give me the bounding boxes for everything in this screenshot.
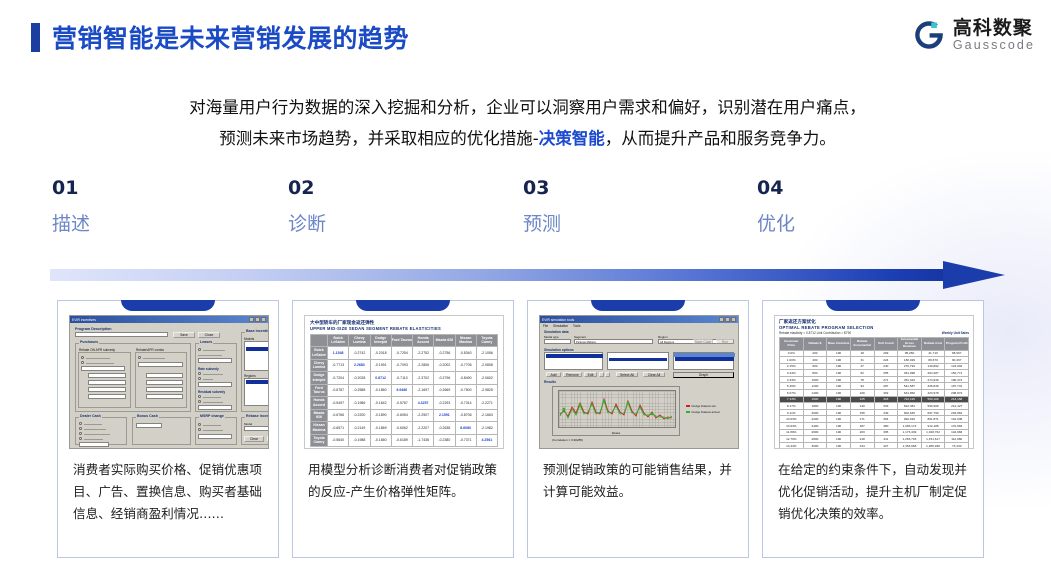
radio-no-lease-label — [203, 350, 225, 351]
matrix-cell: -2.2806 — [413, 359, 434, 372]
matrix-cell: -0.5640 — [328, 434, 349, 447]
clear-all-button-3[interactable]: Clear All — [643, 372, 665, 377]
matrix-cell: -0.2200 — [349, 409, 370, 422]
card-caption-4: 在给定的约束条件下，自动发现并优化促销活动，提升主机厂制定促销优化决策的效率。 — [778, 459, 970, 525]
radio-rebate-cash-label — [84, 429, 106, 430]
minimize-icon[interactable] — [249, 317, 254, 322]
term-36-left[interactable] — [88, 380, 126, 385]
rebate-cell: 10.93% — [780, 423, 804, 430]
maximize-icon[interactable] — [255, 317, 260, 322]
edit-button[interactable]: Edit — [584, 372, 597, 377]
term-60-right[interactable] — [146, 394, 183, 399]
remove-button[interactable]: Remove — [563, 372, 582, 377]
rebase-model-select[interactable] — [244, 426, 269, 431]
menu-tools[interactable]: Tools — [573, 324, 580, 328]
matrix-cell: -0.8340 — [455, 347, 476, 360]
purchases-label: Purchases — [79, 340, 99, 344]
step-label-4: 优化 — [757, 208, 795, 240]
rebate-cell: 395 — [874, 429, 898, 436]
dealer-cash-select[interactable] — [79, 442, 109, 447]
matrix-cell: 8.6080 — [455, 422, 476, 435]
menu-simulation[interactable]: Simulation — [553, 324, 568, 328]
rebate-cell: 3.44% — [780, 370, 804, 377]
card-tab-4 — [826, 300, 920, 311]
logo-text-en: Gausscode — [953, 38, 1035, 52]
radio-lease-only[interactable] — [79, 437, 82, 440]
matrix-cell: 0.8712 — [370, 372, 391, 385]
matrix-cell: -0.1991 — [370, 359, 391, 372]
rebate-cell: 156 — [850, 409, 874, 416]
title-text: 营销智能是未来营销发展的趋势 — [52, 19, 409, 55]
rebate-cell: 180,029 — [898, 357, 922, 364]
matrix-cell: -0.1986 — [349, 397, 370, 410]
rebate-cell: 171 — [850, 416, 874, 423]
scenario-header — [674, 353, 735, 357]
rebate-cell: 190 — [827, 409, 851, 416]
radio-no-lease-subvent[interactable] — [198, 348, 201, 351]
rebate-row: 1.00%40019031224180,02989,67090,467 — [780, 357, 969, 364]
matrix-cell: -0.2796 — [434, 372, 455, 385]
rebate-cell: 8.17% — [780, 403, 804, 410]
rebate-cell: 801,871 — [921, 416, 945, 423]
results-label: Results — [544, 380, 556, 384]
models-selected-item-3 — [609, 358, 667, 362]
matrix-row-header: Honda Accord — [311, 397, 328, 410]
leases-label: Leases — [199, 340, 213, 344]
rebate-cell: 190 — [827, 357, 851, 364]
model-type-select[interactable] — [544, 339, 571, 344]
matrix-row: Toyota Camry-0.5640-0.1988-0.1660-0.6189… — [311, 434, 498, 447]
term-24-left[interactable] — [88, 373, 126, 378]
rebate-header-row: Customer Price Rebate $ Base Incentive R… — [780, 337, 969, 350]
rebate-col-8: Program Profit — [945, 337, 969, 350]
step-label-1: 描述 — [52, 208, 90, 240]
rebate-cell: 125 — [850, 396, 874, 403]
rebate-cell: 427 — [874, 442, 898, 449]
rebate-title-en: OPTIMAL REBATE PROGRAM SELECTION — [779, 325, 969, 330]
arrow-head — [943, 261, 1005, 289]
rebate-cell: 187,741 — [945, 383, 969, 390]
sim-window-controls[interactable] — [719, 317, 736, 322]
radio-all-cash[interactable] — [79, 432, 82, 435]
progression-arrow-icon — [50, 261, 1005, 289]
rebate-cell: 600 — [803, 363, 827, 370]
matrix-cell: -0.2588 — [349, 384, 370, 397]
stage-card-2[interactable]: 大中型轿车的厂家现金返还弹性 UPPER MID-SIZE SEDAN SEGM… — [292, 300, 514, 558]
options-listbox[interactable] — [544, 352, 603, 370]
rebate-cell: 190 — [827, 390, 851, 397]
matrix-row: Nissan Maxima-0.6571-0.2149-0.1869-0.606… — [311, 422, 498, 435]
rebate-cell: 0.0% — [780, 350, 804, 357]
matrix-cell: -2.3702 — [413, 372, 434, 385]
rebate-cell: 124,902 — [945, 363, 969, 370]
matrix-cell: -2.1982 — [476, 422, 497, 435]
matrix-cell: -2.1697 — [413, 384, 434, 397]
radio-money-factor[interactable] — [198, 372, 201, 375]
combo-offer-select[interactable] — [138, 362, 183, 367]
matrix-col-4: Ford Taurus — [391, 334, 412, 347]
sim-maximize-icon[interactable] — [725, 317, 730, 322]
rebate-cell: 1,028,762 — [921, 429, 945, 436]
rebate-sub-left: Rebate elasticity = 0.8712 Unit Contribu… — [779, 331, 851, 335]
segment-select[interactable]: Pickups Midsize — [574, 339, 653, 344]
rebate-cell: 2200 — [803, 416, 827, 423]
matrix-cell: -0.6766 — [328, 409, 349, 422]
residual-value[interactable] — [198, 405, 232, 410]
legend-swatch-actual — [686, 411, 690, 413]
radio-cash-only-label — [84, 424, 102, 425]
card-tab-1 — [121, 300, 215, 311]
rebate-amount-select[interactable] — [81, 366, 125, 371]
save-button[interactable]: Save — [173, 332, 195, 338]
step-item-3: 03 预测 — [523, 175, 561, 240]
matrix-cell: -2.2271 — [476, 397, 497, 410]
rebate-cell: 224 — [874, 357, 898, 364]
lease-cash-select[interactable] — [198, 358, 232, 363]
rebate-row: 10.03%2200190171364992,910801,871191,038 — [780, 416, 969, 423]
program-description-input[interactable] — [75, 332, 168, 337]
legend-label-sim: Dodge Dakota sim — [692, 404, 717, 408]
matrix-row-header: Nissan Maxima — [311, 422, 328, 435]
msrp-change-label: MSRP change — [199, 414, 225, 418]
stage-card-1[interactable]: EVIR incentives Program Description Save… — [57, 300, 279, 558]
rebate-row: 10.93%24001901873801,083,174912,186170,9… — [780, 423, 969, 430]
rebate-sub-right: Weekly Unit Sales — [942, 331, 969, 335]
rebate-cell: 599,906 — [921, 403, 945, 410]
rebate-cell: 12.70% — [780, 436, 804, 443]
dialog-title-text: EVIR incentives — [72, 318, 96, 322]
run-button[interactable]: Run — [716, 339, 734, 344]
matrix-cell: -2.0602 — [476, 372, 497, 385]
rebate-cell: 90,467 — [945, 357, 969, 364]
page-title: 营销智能是未来营销发展的趋势 — [31, 19, 409, 55]
matrix-cell: -0.2742 — [349, 347, 370, 360]
rebate-cell: 140,862 — [921, 363, 945, 370]
models-listbox-3[interactable] — [607, 352, 669, 370]
matrix-cell: -0.7110 — [391, 372, 412, 385]
regions-selected-item — [246, 380, 269, 384]
matrix-table: Buick LeSabre Chevy Lumina Dodge Intrepi… — [310, 334, 498, 448]
slide-root: 营销智能是未来营销发展的趋势 高科数聚 Gausscode 对海量用户行为数据的… — [0, 0, 1051, 586]
radio-lease-only-label — [84, 439, 103, 440]
rebate-cell: 1600 — [803, 396, 827, 403]
rebate-row: 12.70%28001902184111,263,7031,151,617112… — [780, 436, 969, 443]
radio-apr-subvent[interactable] — [81, 361, 84, 364]
rebate-cell: 140 — [850, 403, 874, 410]
save-case-button[interactable]: Save Case — [693, 339, 713, 344]
rebate-cell: 1,173,439 — [898, 429, 922, 436]
rebate-cell: 722,116 — [898, 396, 922, 403]
matrix-cell: -0.1860 — [370, 384, 391, 397]
matrix-cell: 2.1591 — [434, 409, 455, 422]
step-item-2: 02 诊断 — [288, 175, 326, 240]
step-label-3: 预测 — [523, 208, 561, 240]
optimal-rebate-table: 厂家返还方案优化 OPTIMAL REBATE PROGRAM SELECTIO… — [775, 316, 973, 448]
rebate-cell: 73,430 — [945, 442, 969, 449]
rebate-col-2: Rebate $ — [803, 337, 827, 350]
sim-minimize-icon[interactable] — [719, 317, 724, 322]
rate-subvent-label: Rate subvedy — [198, 367, 219, 371]
rebate-cell: 109 — [850, 390, 874, 397]
rebate-row: 13.44%30001902344271,353,9681,280,93873,… — [780, 442, 969, 449]
residual-subvent-label: Residual subvedy — [198, 390, 225, 394]
matrix-col-5: Honda Accord — [413, 334, 434, 347]
title-accent-bar — [31, 23, 40, 52]
rebate-cell: 180,374 — [945, 376, 969, 383]
stage-card-4[interactable]: 厂家返还方案优化 OPTIMAL REBATE PROGRAM SELECTIO… — [762, 300, 984, 558]
bonus-cash-input[interactable] — [136, 423, 162, 428]
step-label-2: 诊断 — [288, 208, 326, 240]
rebate-cell: 190 — [827, 370, 851, 377]
radio-residual-amount[interactable] — [198, 395, 201, 398]
radio-cash-only[interactable] — [79, 422, 82, 425]
term-24-right[interactable] — [146, 373, 183, 378]
matrix-body: Buick LeSabre1.1548-0.2742-0.2018-0.7254… — [311, 347, 498, 447]
rebate-cell: 1.00% — [780, 357, 804, 364]
matrix-cell: -2.2207 — [413, 422, 434, 435]
rebate-cell: 912,186 — [921, 423, 945, 430]
matrix-cell: -0.6054 — [391, 409, 412, 422]
legend-item-actual: Dodge Dakota actual — [686, 410, 720, 414]
matrix-cell: -0.8706 — [455, 409, 476, 422]
rebate-cell: 209 — [874, 350, 898, 357]
rebate-col-5: Unit Count — [874, 337, 898, 350]
matrix-cell: 6.9480 — [391, 384, 412, 397]
rebate-cell: 6.07% — [780, 390, 804, 397]
matrix-row: Chevy Lumina-0.77132.2683-0.1991-0.7093-… — [311, 359, 498, 372]
options-selected-item — [546, 354, 603, 358]
matrix-cell: -0.8490 — [455, 372, 476, 385]
rebate-row: 8.17%1800190140333812,381599,906212,427 — [780, 403, 969, 410]
matrix-cell: 4.3257 — [413, 397, 434, 410]
sim-title-text: EVIR simulation tools — [542, 318, 574, 322]
matrix-cell: -0.7254 — [391, 347, 412, 360]
rebate-cell: 255 — [874, 370, 898, 377]
rebate-cell: 345,846 — [921, 383, 945, 390]
rebate-col-3: Base Incentive — [827, 337, 851, 350]
rebate-cell: 62 — [850, 370, 874, 377]
rebate-cell: 190 — [827, 376, 851, 383]
rebate-cell: 400 — [803, 357, 827, 364]
logo-text-cn: 高科数聚 — [953, 18, 1035, 38]
card-caption-3: 预测促销政策的可能销售结果，并计算可能效益。 — [543, 459, 735, 503]
radio-msrp-amount[interactable] — [198, 423, 201, 426]
rebate-cell: 190 — [827, 350, 851, 357]
rebate-row: 4.33%100019078271451,323274,949180,374 — [780, 376, 969, 383]
incentives-dialog: EVIR incentives Program Description Save… — [70, 316, 268, 448]
matrix-row: Mazda 626-0.6766-0.2200-0.1890-0.6054-2.… — [311, 409, 498, 422]
matrix-cell: 2.2683 — [349, 359, 370, 372]
radio-rebate-cash-inc[interactable] — [79, 427, 82, 430]
matrix-row-header: Buick LeSabre — [311, 347, 328, 360]
radio-not-offered[interactable] — [138, 356, 141, 359]
add-button[interactable]: Add — [546, 372, 561, 377]
rebate-cell: 274,949 — [921, 376, 945, 383]
step-number-1: 01 — [52, 175, 90, 201]
matrix-cell: -0.2638 — [434, 422, 455, 435]
gausscode-g-mark-icon — [912, 18, 946, 52]
matrix-row: Ford Taurus-0.6787-0.2588-0.18606.9480-2… — [311, 384, 498, 397]
rebate-cell: 451,323 — [898, 376, 922, 383]
step-number-4: 04 — [757, 175, 795, 201]
term-36-right[interactable] — [146, 380, 183, 385]
restore-environment-button[interactable]: Restore current environment — [267, 436, 269, 442]
matrix-cell: -0.6062 — [391, 422, 412, 435]
menu-file[interactable]: File — [543, 324, 548, 328]
step-list: 01 描述 02 诊断 03 预测 04 优化 — [0, 175, 1051, 245]
intro-line-2a: 预测未来市场趋势，并采取相应的优化措施- — [219, 129, 538, 148]
rebate-cell: 1,263,703 — [898, 436, 922, 443]
card-caption-1: 消费者实际购买价格、促销优惠项目、广告、置换信息、购买者基础信息、经销商盈利情况… — [73, 459, 265, 525]
matrix-cell: -0.2380 — [434, 434, 455, 447]
rebate-cell: 9.11% — [780, 409, 804, 416]
matrix-row-header: Chevy Lumina — [311, 359, 328, 372]
matrix-cell: -0.1988 — [349, 434, 370, 447]
rebate-col-6: Incremental Gross Revenue — [898, 337, 922, 350]
msrp-change-value[interactable] — [198, 434, 232, 439]
term-48-right[interactable] — [146, 387, 183, 392]
matrix-cell: -0.6787 — [328, 384, 349, 397]
rebate-cell: 187 — [850, 423, 874, 430]
matrix-cell: 4.2561 — [476, 434, 497, 447]
rebate-row: 11.80%26001902033951,173,4391,028,762144… — [780, 429, 969, 436]
matrix-cell: -0.2028 — [349, 372, 370, 385]
stage-card-3[interactable]: EVIR simulation tools File Simulation To… — [527, 300, 749, 558]
simulation-data-label: Simulation data — [544, 330, 569, 334]
step-item-1: 01 描述 — [52, 175, 90, 240]
rebate-cell: 1000 — [803, 376, 827, 383]
sim-close-icon[interactable] — [731, 317, 736, 322]
rebate-cell: 68,667 — [945, 350, 969, 357]
slide-header: 营销智能是未来营销发展的趋势 高科数聚 Gausscode — [0, 0, 1051, 76]
rebate-cell: 1,280,938 — [921, 442, 945, 449]
rate-subvent-value[interactable] — [198, 382, 232, 387]
matrix-row-header: Toyota Camry — [311, 434, 328, 447]
term-60-left[interactable] — [88, 394, 126, 399]
radio-apr[interactable] — [198, 377, 201, 380]
rebate-cell: 509,109 — [921, 396, 945, 403]
matrix-row-header: Mazda 626 — [311, 409, 328, 422]
rebate-cell: 200 — [803, 350, 827, 357]
matrix-cell: -0.2756 — [434, 347, 455, 360]
elasticity-matrix: 大中型轿车的厂家现金返还弹性 UPPER MID-SIZE SEDAN SEGM… — [305, 316, 503, 448]
matrix-row-header: Dodge Intrepid — [311, 372, 328, 385]
rebate-cell: 364 — [874, 416, 898, 423]
matrix-cell: -0.7713 — [328, 359, 349, 372]
matrix-cell: -0.2293 — [434, 397, 455, 410]
matrix-cell: -0.1869 — [370, 422, 391, 435]
rebate-row: 0.0%2001901820995,26041,71068,667 — [780, 350, 969, 357]
card-tab-3 — [591, 300, 685, 311]
rebate-cell: 992,910 — [898, 416, 922, 423]
close-button[interactable]: Close — [198, 332, 220, 338]
rebate-cell: 2600 — [803, 429, 827, 436]
move-down-icon[interactable] — [605, 372, 610, 377]
rebate-cell: 1200 — [803, 383, 827, 390]
rebate-row: 9.11%2000190156349902,645697,790204,881 — [780, 409, 969, 416]
legend-item-sim: Dodge Dakota sim — [686, 404, 716, 408]
rebate-cell: 218 — [850, 436, 874, 443]
rebate-cell: 190 — [827, 436, 851, 443]
rebate-cell: 1400 — [803, 390, 827, 397]
rebate-cell: 190 — [827, 396, 851, 403]
window-controls[interactable] — [249, 317, 266, 322]
matrix-cell: -2.1663 — [476, 409, 497, 422]
card-screenshot-3: EVIR simulation tools File Simulation To… — [539, 315, 739, 449]
rebate-cell: 144,682 — [945, 429, 969, 436]
rebate-cell: 47 — [850, 363, 874, 370]
radio-residual-pct[interactable] — [198, 400, 201, 403]
rebate-cell: 2800 — [803, 436, 827, 443]
plot-series — [558, 390, 676, 430]
term-48-left[interactable] — [88, 387, 126, 392]
intro-line-2b: ，从而提升产品和服务竞争力。 — [605, 129, 836, 148]
program-description-label: Program Description — [75, 327, 111, 331]
select-all-button-3[interactable]: Select All — [616, 372, 638, 377]
rebate-cell: 190 — [827, 403, 851, 410]
rebate-cell: 190 — [827, 423, 851, 430]
radio-no-rebate[interactable] — [81, 356, 84, 359]
rebate-cell: 697,790 — [921, 409, 945, 416]
dealer-cash-group: Dealer Cash — [75, 417, 127, 445]
step-number-2: 02 — [288, 175, 326, 201]
matrix-cell: -0.2669 — [434, 384, 455, 397]
matrix-cell: -0.2018 — [370, 347, 391, 360]
scenario-listbox[interactable] — [673, 352, 734, 370]
matrix-cell: -2.0808 — [476, 359, 497, 372]
matrix-cell: -0.7314 — [455, 397, 476, 410]
matrix-row: Dodge Intrepid-0.7204-0.20280.8712-0.711… — [311, 372, 498, 385]
rebate-col-7: Rebate Cost — [921, 337, 945, 350]
rebate-cell: 3000 — [803, 442, 827, 449]
close-icon[interactable] — [261, 317, 266, 322]
rebase-clear-button[interactable]: Clear — [244, 436, 264, 442]
card-screenshot-4: 厂家返还方案优化 OPTIMAL REBATE PROGRAM SELECTIO… — [774, 315, 974, 449]
graph-button[interactable]: Graph — [673, 372, 734, 378]
card-screenshot-2: 大中型轿车的厂家现金返还弹性 UPPER MID-SIZE SEDAN SEGM… — [304, 315, 504, 449]
radio-msrp-pct[interactable] — [198, 428, 201, 431]
matrix-cell: -0.7706 — [455, 359, 476, 372]
move-up-icon[interactable] — [599, 372, 604, 377]
matrix-cell: -1.7436 — [413, 434, 434, 447]
rebate-cell: 902,645 — [898, 409, 922, 416]
rebate-cell: 411 — [874, 436, 898, 443]
rebate-cell: 234 — [850, 442, 874, 449]
matrix-cell: -2.2507 — [413, 409, 434, 422]
rebate-cell: 361,098 — [898, 370, 922, 377]
rebate-cell: 190 — [827, 383, 851, 390]
rebate-row: 2.15%60019047240270,794140,862124,902 — [780, 363, 969, 370]
rebate-cell: 152,771 — [945, 370, 969, 377]
regions-listbox[interactable] — [244, 378, 269, 406]
rebate-cell: 240 — [874, 363, 898, 370]
rebate-cell: 302 — [874, 390, 898, 397]
rebate-cell: 2000 — [803, 409, 827, 416]
rebate-cell: 349 — [874, 409, 898, 416]
rebate-cell: 812,381 — [898, 403, 922, 410]
matrix-cell: -0.7371 — [455, 434, 476, 447]
sim-menubar[interactable]: File Simulation Tools — [540, 323, 738, 328]
step-number-3: 03 — [523, 175, 561, 201]
bonus-cash-label: Bonus Cash — [136, 414, 159, 418]
rebate-cell: 203 — [850, 429, 874, 436]
models-listbox[interactable] — [244, 341, 269, 371]
matrix-col-8: Toyota Camry — [476, 334, 497, 347]
simulation-window: EVIR simulation tools File Simulation To… — [540, 316, 738, 448]
plot-x-axis-label: Weeks — [612, 431, 621, 435]
matrix-cell: -0.6571 — [328, 422, 349, 435]
matrix-col-7: Nissan Maxima — [455, 334, 476, 347]
